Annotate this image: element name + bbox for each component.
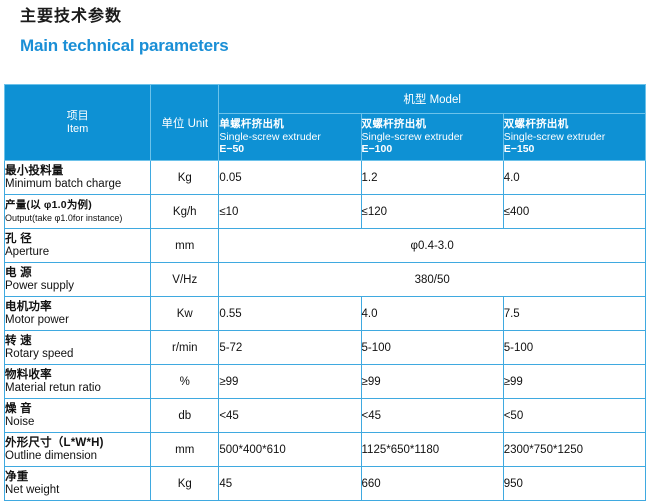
row-unit: r/min xyxy=(151,331,219,365)
row-item-cn: 燥 音 xyxy=(5,403,150,416)
row-unit: Kw xyxy=(151,297,219,331)
table-row: 物料收率Material retun ratio%≥99≥99≥99 xyxy=(5,365,646,399)
row-value-2: 5-100 xyxy=(361,331,503,365)
table-body: 最小投料量Minimum batch chargeKg0.051.24.0产量(… xyxy=(5,161,646,501)
row-item-cn: 转 速 xyxy=(5,335,150,348)
row-item-cn: 净重 xyxy=(5,471,150,484)
header-model-2-cn: 双螺杆挤出机 xyxy=(362,118,503,131)
row-item-en: Aperture xyxy=(5,246,150,259)
row-value-1: ≥99 xyxy=(219,365,361,399)
header-item: 项目 Item xyxy=(5,85,151,161)
row-value-3: 5-100 xyxy=(503,331,645,365)
header-model-2-code: E−100 xyxy=(362,143,503,156)
table-row: 电机功率Motor powerKw0.554.07.5 xyxy=(5,297,646,331)
row-item-en: Motor power xyxy=(5,314,150,327)
row-value-2: ≤120 xyxy=(361,195,503,229)
row-item-cn: 产量(以 φ1.0为例) xyxy=(5,199,150,212)
row-value-3: 7.5 xyxy=(503,297,645,331)
table-row: 电 源Power supplyV/Hz380/50 xyxy=(5,263,646,297)
row-item-label: 电机功率Motor power xyxy=(5,297,151,331)
row-item-cn: 物料收率 xyxy=(5,369,150,382)
header-model-group: 机型 Model xyxy=(219,85,646,114)
row-value-3: 2300*750*1250 xyxy=(503,433,645,467)
row-item-label: 外形尺寸（L*W*H)Outline dimension xyxy=(5,433,151,467)
row-item-cn: 电机功率 xyxy=(5,301,150,314)
row-item-label: 电 源Power supply xyxy=(5,263,151,297)
row-item-en: Net weight xyxy=(5,484,150,497)
row-item-cn: 孔 径 xyxy=(5,233,150,246)
header-model-1: 单螺杆挤出机 Single-screw extruder E−50 xyxy=(219,114,361,161)
table-row: 净重Net weightKg45660950 xyxy=(5,467,646,501)
row-item-label: 净重Net weight xyxy=(5,467,151,501)
row-value-2: <45 xyxy=(361,399,503,433)
row-value-2: 1.2 xyxy=(361,161,503,195)
row-item-en: Outline dimension xyxy=(5,450,150,463)
table-row: 外形尺寸（L*W*H)Outline dimensionmm500*400*61… xyxy=(5,433,646,467)
row-item-cn: 外形尺寸（L*W*H) xyxy=(5,437,150,450)
row-value-1: 0.55 xyxy=(219,297,361,331)
row-unit: mm xyxy=(151,433,219,467)
page-title-cn: 主要技术参数 xyxy=(20,7,122,27)
row-unit: Kg xyxy=(151,161,219,195)
row-item-label: 转 速Rotary speed xyxy=(5,331,151,365)
table-row: 孔 径Aperturemmφ0.4-3.0 xyxy=(5,229,646,263)
row-value-1: 0.05 xyxy=(219,161,361,195)
row-item-label: 孔 径Aperture xyxy=(5,229,151,263)
row-item-label: 产量(以 φ1.0为例)Output(take φ1.0for instance… xyxy=(5,195,151,229)
row-value-1: ≤10 xyxy=(219,195,361,229)
parameters-page: 主要技术参数 Main technical parameters 项目 Item… xyxy=(0,0,650,502)
row-item-en: Output(take φ1.0for instance) xyxy=(5,212,150,225)
row-item-cn: 最小投料量 xyxy=(5,165,150,178)
row-value-2: 660 xyxy=(361,467,503,501)
header-model-3-cn: 双螺杆挤出机 xyxy=(504,118,645,131)
row-item-label: 燥 音Noise xyxy=(5,399,151,433)
row-item-en: Rotary speed xyxy=(5,348,150,361)
table-row: 转 速Rotary speedr/min5-725-1005-100 xyxy=(5,331,646,365)
table-row: 产量(以 φ1.0为例)Output(take φ1.0for instance… xyxy=(5,195,646,229)
page-title-en: Main technical parameters xyxy=(20,36,229,56)
header-model-1-en: Single-screw extruder xyxy=(219,131,360,144)
row-value-3: 4.0 xyxy=(503,161,645,195)
row-item-en: Minimum batch charge xyxy=(5,178,150,191)
table-row: 燥 音Noisedb<45<45<50 xyxy=(5,399,646,433)
row-value-1: <45 xyxy=(219,399,361,433)
row-value-3: ≤400 xyxy=(503,195,645,229)
header-model-1-code: E−50 xyxy=(219,143,360,156)
row-item-label: 物料收率Material retun ratio xyxy=(5,365,151,399)
row-unit: mm xyxy=(151,229,219,263)
header-unit: 单位 Unit xyxy=(151,85,219,161)
row-value-merged: 380/50 xyxy=(219,263,646,297)
row-item-en: Material retun ratio xyxy=(5,382,150,395)
row-value-1: 5-72 xyxy=(219,331,361,365)
header-model-3-code: E−150 xyxy=(504,143,645,156)
row-unit: Kg/h xyxy=(151,195,219,229)
table-row: 最小投料量Minimum batch chargeKg0.051.24.0 xyxy=(5,161,646,195)
row-value-3: <50 xyxy=(503,399,645,433)
row-unit: Kg xyxy=(151,467,219,501)
row-item-en: Power supply xyxy=(5,280,150,293)
header-model-3: 双螺杆挤出机 Single-screw extruder E−150 xyxy=(503,114,645,161)
row-item-en: Noise xyxy=(5,416,150,429)
row-value-1: 45 xyxy=(219,467,361,501)
row-item-cn: 电 源 xyxy=(5,267,150,280)
row-value-1: 500*400*610 xyxy=(219,433,361,467)
row-unit: db xyxy=(151,399,219,433)
header-item-en: Item xyxy=(5,123,150,136)
header-item-cn: 项目 xyxy=(5,110,150,123)
table-header: 项目 Item 单位 Unit 机型 Model 单螺杆挤出机 Single-s… xyxy=(5,85,646,161)
row-value-3: 950 xyxy=(503,467,645,501)
header-model-3-en: Single-screw extruder xyxy=(504,131,645,144)
row-unit: % xyxy=(151,365,219,399)
row-unit: V/Hz xyxy=(151,263,219,297)
row-value-2: 1125*650*1180 xyxy=(361,433,503,467)
row-value-merged: φ0.4-3.0 xyxy=(219,229,646,263)
header-model-2-en: Single-screw extruder xyxy=(362,131,503,144)
row-value-3: ≥99 xyxy=(503,365,645,399)
row-value-2: 4.0 xyxy=(361,297,503,331)
header-model-2: 双螺杆挤出机 Single-screw extruder E−100 xyxy=(361,114,503,161)
header-model-1-cn: 单螺杆挤出机 xyxy=(219,118,360,131)
row-item-label: 最小投料量Minimum batch charge xyxy=(5,161,151,195)
row-value-2: ≥99 xyxy=(361,365,503,399)
technical-parameters-table: 项目 Item 单位 Unit 机型 Model 单螺杆挤出机 Single-s… xyxy=(4,84,646,501)
